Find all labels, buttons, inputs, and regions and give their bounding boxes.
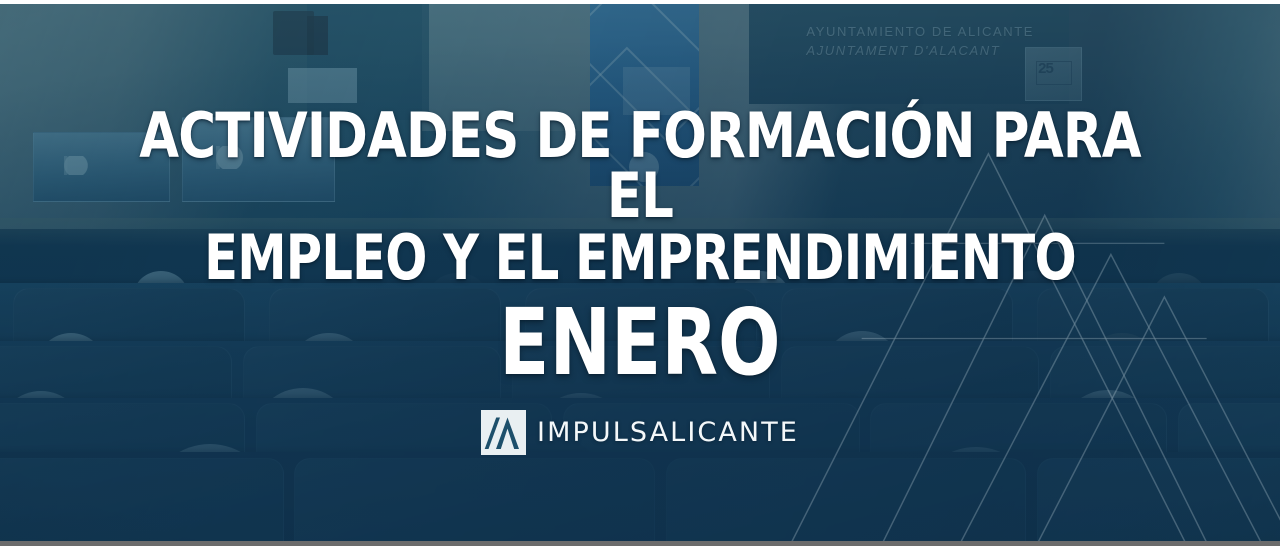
page-title: ACTIVIDADES DE FORMACIÓN PARA EL EMPLEO … (0, 0, 1280, 288)
month-label: ENERO (499, 302, 780, 385)
top-edge-strip (0, 0, 1280, 4)
banner-content: ACTIVIDADES DE FORMACIÓN PARA EL EMPLEO … (0, 0, 1280, 546)
impulsalicante-a-mark-icon (481, 410, 526, 455)
headline-line-2: EMPLEO Y EL EMPRENDIMIENTO (128, 228, 1152, 288)
headline-line-1: ACTIVIDADES DE FORMACIÓN PARA EL (109, 106, 1171, 225)
event-banner: AYUNTAMIENTO DE ALICANTE AJUNTAMENT D'AL… (0, 0, 1280, 546)
impulsalicante-logo: IMPULSALICANTE (481, 410, 799, 455)
bottom-edge-strip (0, 541, 1280, 546)
impulsalicante-wordmark: IMPULSALICANTE (537, 417, 799, 448)
